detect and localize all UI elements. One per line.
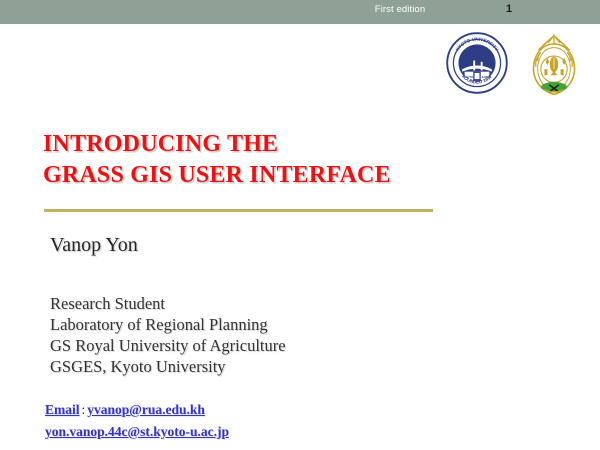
affiliation-block: Research Student Laboratory of Regional … [50,293,470,377]
svg-text:KYOTO: KYOTO [463,75,474,79]
affiliation-line: GS Royal University of Agriculture [50,335,470,356]
title-divider-rule [44,209,433,212]
royal-university-of-agriculture-emblem-icon [524,32,584,98]
affiliation-line: GSGES, Kyoto University [50,356,470,377]
email-label-link[interactable]: Email [45,402,80,417]
title-line-2: GRASS GIS USER INTERFACE [43,160,463,191]
slide-title: INTRODUCING THE GRASS GIS USER INTERFACE [43,129,463,191]
svg-text:JAPAN: JAPAN [482,75,491,79]
page-number: 1 [494,3,524,15]
kyoto-university-seal-icon: KYOTO UNIVERSITY FOUNDED 1897 KYOTO JAPA… [446,32,508,94]
email-address-kyoto-link[interactable]: yon.vanop.44c@st.kyoto-u.ac.jp [45,424,229,439]
contact-block: Email:yvanop@rua.edu.kh yon.vanop.44c@st… [45,399,465,443]
affiliation-line: Research Student [50,293,470,314]
email-row-primary: Email:yvanop@rua.edu.kh [45,399,465,421]
email-address-rua-link[interactable]: yvanop@rua.edu.kh [87,402,205,417]
edition-label: First edition [330,4,470,15]
affiliation-line: Laboratory of Regional Planning [50,314,470,335]
title-line-1: INTRODUCING THE [43,129,463,160]
email-row-secondary: yon.vanop.44c@st.kyoto-u.ac.jp [45,421,465,443]
author-name: Vanop Yon [50,234,138,257]
